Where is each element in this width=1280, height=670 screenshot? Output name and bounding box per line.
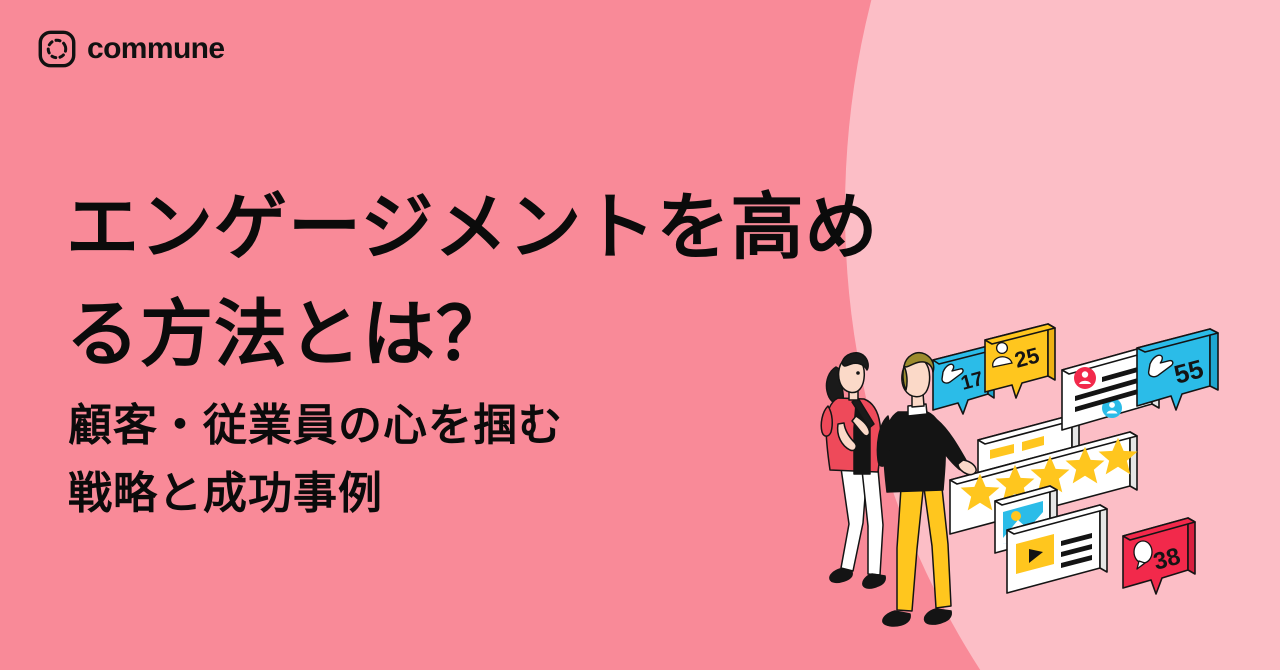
commune-logo-icon (38, 30, 76, 68)
follower-bubble-yellow: 25 (985, 324, 1055, 398)
hero-banner: commune エンゲージメントを高め る方法とは？ 顧客・従業員の心を掴む 戦… (0, 0, 1280, 670)
comment-bubble-red: 38 (1123, 518, 1195, 594)
like-bubble-cyan: 55 (1137, 329, 1218, 410)
brand-logo[interactable]: commune (38, 30, 225, 68)
headline-line-1: エンゲージメントを高め (66, 174, 1066, 281)
subtitle-line-2: 戦略と成功事例 (68, 460, 563, 528)
avatar-icon (1074, 367, 1096, 389)
subtitle-line-1: 顧客・従業員の心を掴む (68, 392, 563, 460)
brand-name: commune (87, 34, 225, 64)
page-subtitle: 顧客・従業員の心を掴む 戦略と成功事例 (68, 392, 563, 528)
woman-figure (821, 353, 885, 588)
hero-illustration: 17 25 55 (800, 320, 1270, 650)
